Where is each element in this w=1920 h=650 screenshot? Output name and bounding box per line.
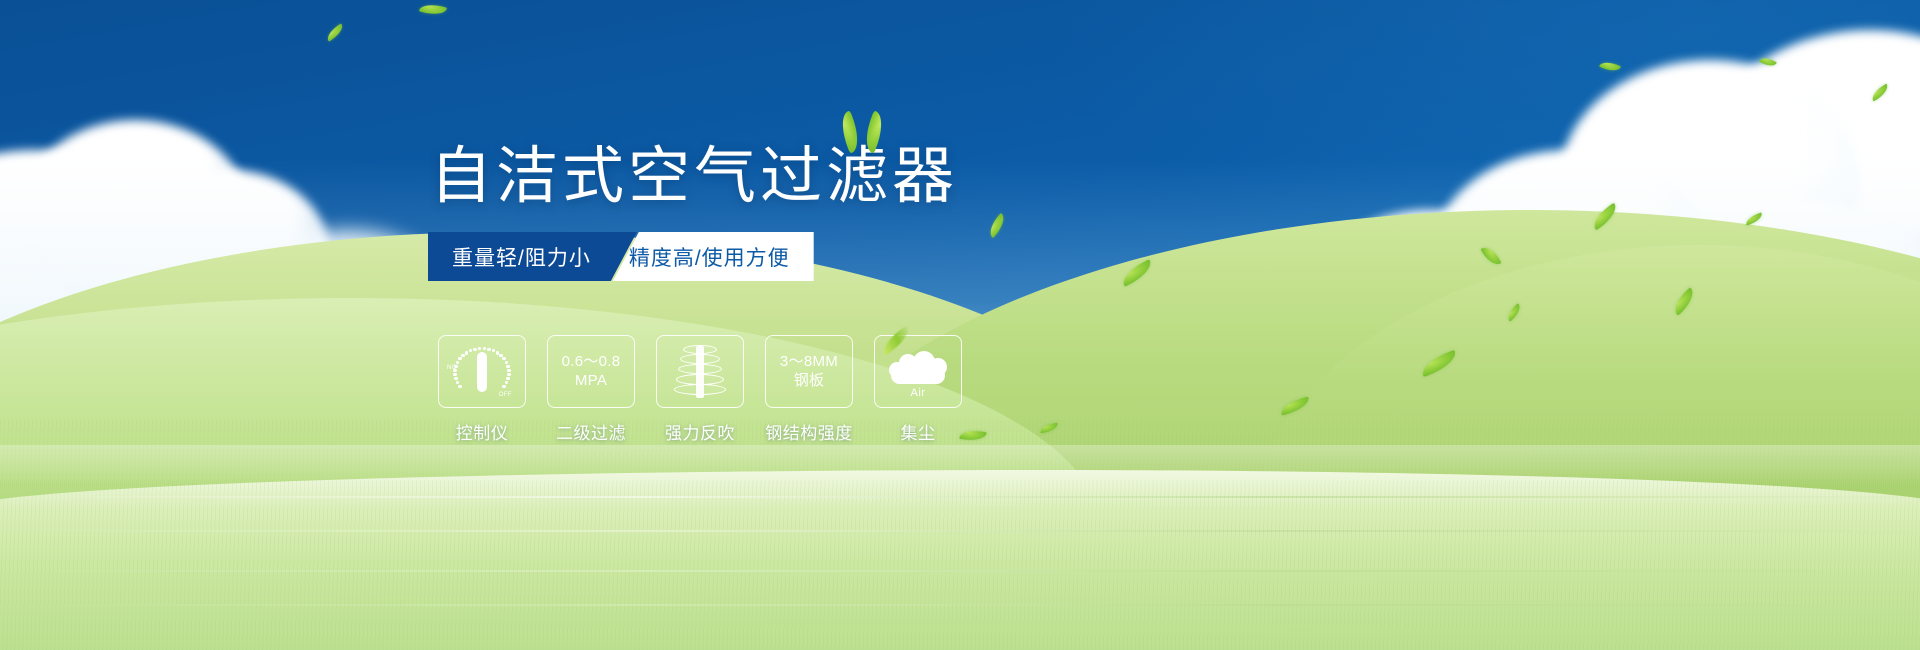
feature-icon-box: 0.6～0.8 MPA [547,335,635,408]
feature-item-dust-collection: Air 集尘 [874,335,962,444]
gauge-label-no: NO [447,365,457,371]
feature-icon-box [656,335,744,408]
sprout-leaves-icon [836,112,896,158]
feature-icon-box: Air [874,335,962,408]
feature-tag-weight-resistance: 重量轻/阻力小 [428,232,637,281]
feature-caption: 钢结构强度 [765,419,853,444]
feature-tag-group: 重量轻/阻力小 精度高/使用方便 [428,232,814,281]
air-label: Air [887,387,949,399]
feature-caption: 二级过滤 [547,419,635,444]
feature-icon-box: NO OFF [438,335,526,408]
feature-icon-row: NO OFF 控制仪 0.6～0.8 MPA 二级过滤 [438,335,962,444]
gauge-dial-icon: NO OFF [448,343,516,401]
hero-banner: 自洁式空气过滤器 重量轻/阻力小 精度高/使用方便 NO OFF 控制仪 [0,0,1920,650]
feature-tag-precision-convenience: 精度高/使用方便 [613,232,814,281]
feature-item-controller: NO OFF 控制仪 [438,335,526,444]
air-cloud-icon: Air [887,346,949,398]
pressure-range: 0.6～0.8 [562,353,621,372]
pressure-value-text: 0.6～0.8 MPA [562,353,621,391]
feature-item-strong-backblow: 强力反吹 [656,335,744,444]
gauge-label-off: OFF [499,392,512,398]
steel-thickness: 3～8MM [780,353,838,372]
feature-caption: 强力反吹 [656,419,744,444]
steel-plate-text: 3～8MM 钢板 [780,353,838,391]
feature-caption: 集尘 [874,419,962,444]
filter-coil-icon [673,343,727,401]
feature-item-two-stage-filter: 0.6～0.8 MPA 二级过滤 [547,335,635,444]
leaf-swoosh-icon [878,325,913,355]
feature-caption: 控制仪 [438,419,526,444]
feature-icon-box: 3～8MM 钢板 [765,335,853,408]
pressure-unit: MPA [562,372,621,391]
feature-item-steel-strength: 3～8MM 钢板 钢结构强度 [765,335,853,444]
steel-plate-label: 钢板 [780,372,838,391]
